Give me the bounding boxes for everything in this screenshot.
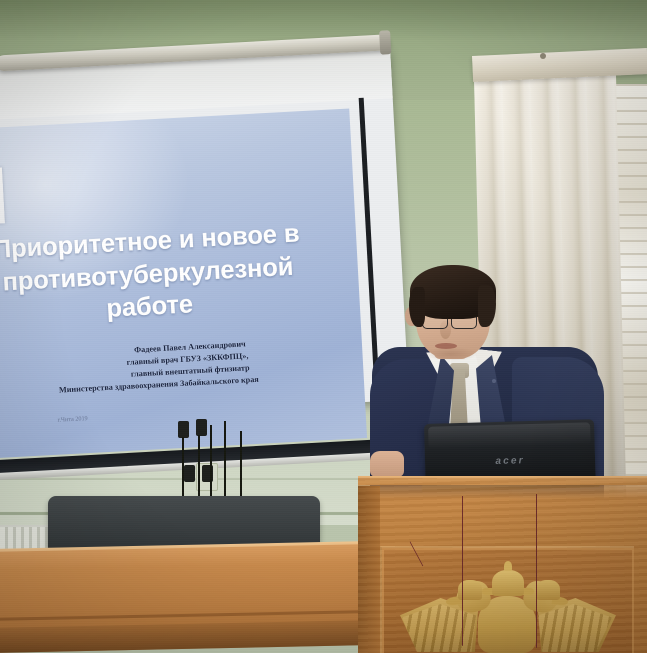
screen-surface: Приоритетное и новое в противотуберкулез… [0,48,409,423]
laptop-brand-label: acer [425,453,595,469]
podium-cable-1 [462,496,463,646]
cable-3 [210,425,212,505]
lapel-pin-icon [492,379,496,383]
screen-roller-cap [379,30,391,55]
podium-cable-2 [536,494,537,648]
hair-side-left [409,287,425,327]
projector-screen: Приоритетное и новое в противотуберкулез… [0,0,405,421]
cable-plug-1 [178,421,189,438]
crown-center [492,570,524,596]
cable-plug-2 [196,419,207,436]
crown-right [536,580,560,600]
hair-side-right [478,285,496,327]
mouth [435,343,457,349]
slide: Приоритетное и новое в противотуберкулез… [0,108,367,460]
presentation-photo: Приоритетное и новое в противотуберкулез… [0,0,647,653]
cable-2 [198,435,200,501]
slide-subtitle: Фадеев Павел Александрович главный врач … [0,333,356,402]
slide-title: Приоритетное и новое в противотуберкулез… [0,215,352,335]
cable-4 [224,421,226,507]
chin-shadow [424,347,478,361]
coat-of-arms-icon [396,570,620,653]
hand-left [370,451,404,477]
cable-1 [182,437,184,499]
valance-knob [540,53,546,59]
laptop-lid-highlight [428,422,591,449]
cable-plug-3 [184,465,195,482]
